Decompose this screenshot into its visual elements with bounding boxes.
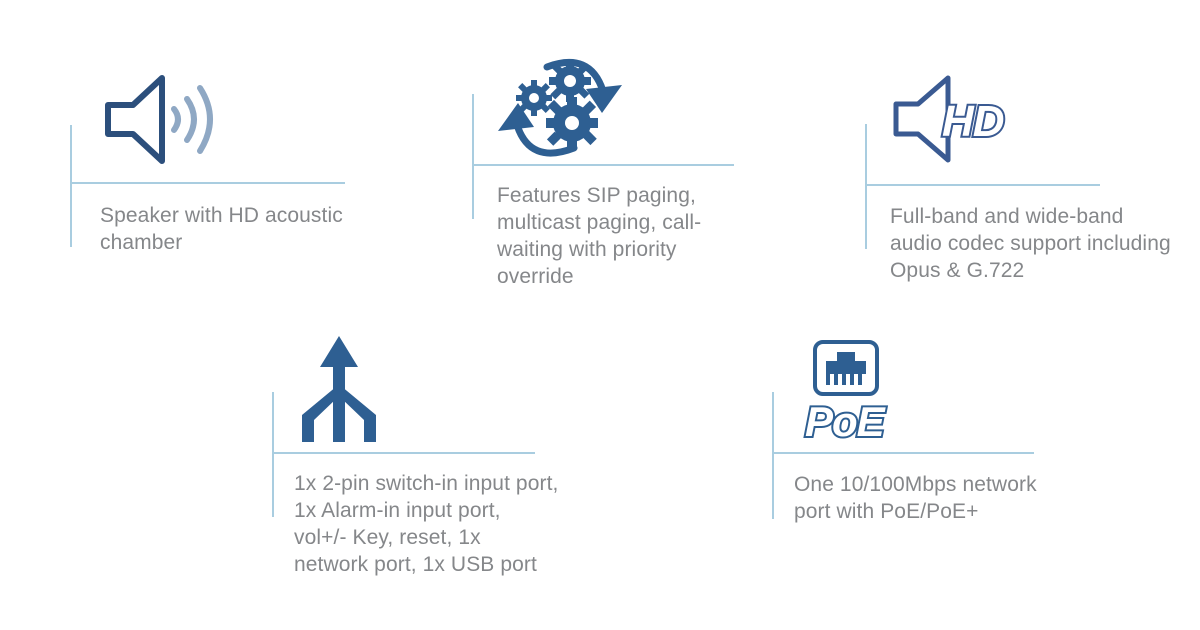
card-horizontal-rule	[472, 164, 734, 166]
card-vertical-rule	[272, 392, 274, 517]
card-vertical-rule	[865, 124, 867, 249]
card-horizontal-rule	[272, 452, 535, 454]
feature-caption: Full-band and wide-band audio codec supp…	[890, 203, 1180, 284]
speaker-waves-icon	[100, 72, 230, 167]
card-horizontal-rule	[772, 452, 1034, 454]
feature-caption: Speaker with HD acoustic chamber	[100, 202, 400, 256]
feature-caption: One 10/100Mbps network port with PoE/PoE…	[794, 471, 1064, 525]
card-vertical-rule	[772, 392, 774, 519]
speaker-hd-icon: HD	[890, 74, 1015, 164]
card-horizontal-rule	[865, 184, 1100, 186]
card-horizontal-rule	[70, 182, 345, 184]
poe-rj45-icon: PoE	[797, 339, 907, 444]
gears-cycle-icon	[490, 53, 630, 163]
feature-caption: 1x 2-pin switch-in input port, 1x Alarm-…	[294, 470, 559, 578]
poe-icon-label: PoE	[805, 398, 887, 445]
merging-arrows-icon	[292, 334, 387, 444]
card-vertical-rule	[472, 94, 474, 219]
feature-caption: Features SIP paging, multicast paging, c…	[497, 182, 747, 290]
hd-icon-label: HD	[942, 97, 1004, 146]
card-vertical-rule	[70, 125, 72, 247]
